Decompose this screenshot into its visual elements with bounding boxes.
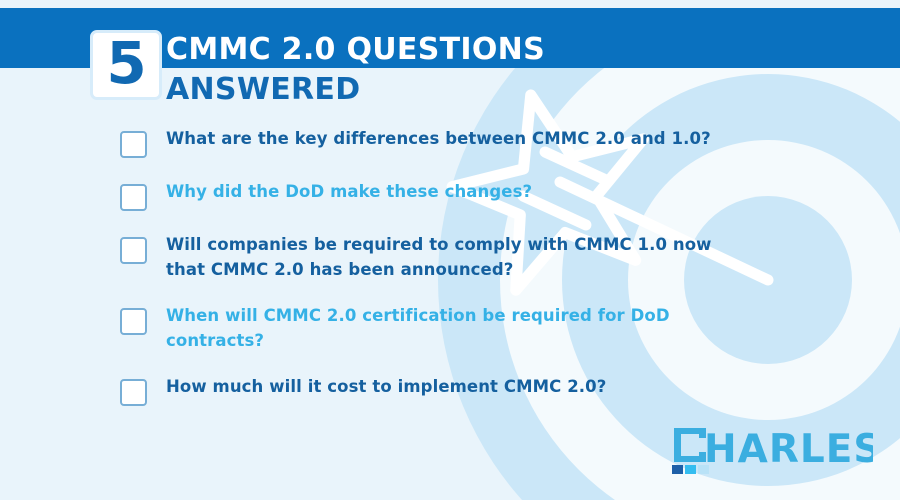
logo-square-2 [685,465,696,474]
question-text: What are the key differences between CMM… [166,126,720,151]
page-title-line-1: CMMC 2.0 QUESTIONS [166,30,786,70]
charles-logo[interactable]: HARLES [668,420,873,478]
question-item-4[interactable]: When will CMMC 2.0 certification be requ… [120,303,720,353]
checkbox-icon[interactable] [120,379,147,406]
question-text: Why did the DoD make these changes? [166,179,720,204]
checkbox-icon[interactable] [120,184,147,211]
question-text: When will CMMC 2.0 certification be requ… [166,303,720,353]
logo-square-1 [672,465,683,474]
question-list: What are the key differences between CMM… [120,126,720,406]
page-title-line-2: ANSWERED [166,70,786,110]
number-badge: 5 [90,30,162,100]
question-item-3[interactable]: Will companies be required to comply wit… [120,232,720,282]
page-title: CMMC 2.0 QUESTIONS ANSWERED [166,30,786,110]
checkbox-icon[interactable] [120,308,147,335]
logo-c-mark [674,428,706,462]
question-text: Will companies be required to comply wit… [166,232,720,282]
checkbox-icon[interactable] [120,131,147,158]
checkbox-icon[interactable] [120,237,147,264]
question-text: How much will it cost to implement CMMC … [166,374,720,399]
infographic-canvas: 5 CMMC 2.0 QUESTIONS ANSWERED What are t… [0,0,900,500]
logo-wordmark: HARLES [704,427,873,472]
question-item-1[interactable]: What are the key differences between CMM… [120,126,720,158]
number-badge-value: 5 [106,34,145,92]
top-strip [0,0,900,8]
question-item-2[interactable]: Why did the DoD make these changes? [120,179,720,211]
question-item-5[interactable]: How much will it cost to implement CMMC … [120,374,720,406]
